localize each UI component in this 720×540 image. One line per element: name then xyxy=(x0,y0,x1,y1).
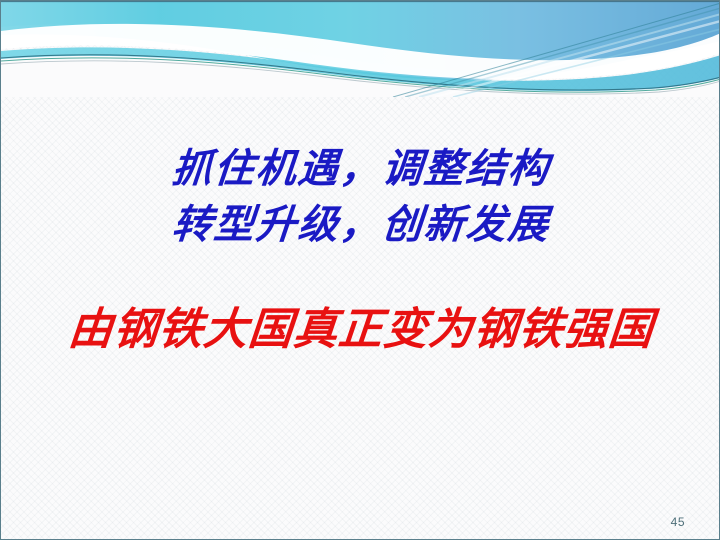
blue-heading-line-2: 转型升级，创新发展 xyxy=(0,197,720,253)
red-slogan-block: 由钢铁大国真正变为钢铁强国 xyxy=(1,299,720,361)
slide-content: 抓住机遇，调整结构 转型升级，创新发展 由钢铁大国真正变为钢铁强国 xyxy=(1,1,720,540)
slide-canvas: 抓住机遇，调整结构 转型升级，创新发展 由钢铁大国真正变为钢铁强国 45 xyxy=(0,0,720,540)
red-slogan-line-1: 由钢铁大国真正变为钢铁强国 xyxy=(0,299,720,361)
blue-heading-line-1: 抓住机遇，调整结构 xyxy=(0,141,720,197)
blue-heading-block: 抓住机遇，调整结构 转型升级，创新发展 xyxy=(1,141,720,253)
page-number: 45 xyxy=(671,515,685,529)
